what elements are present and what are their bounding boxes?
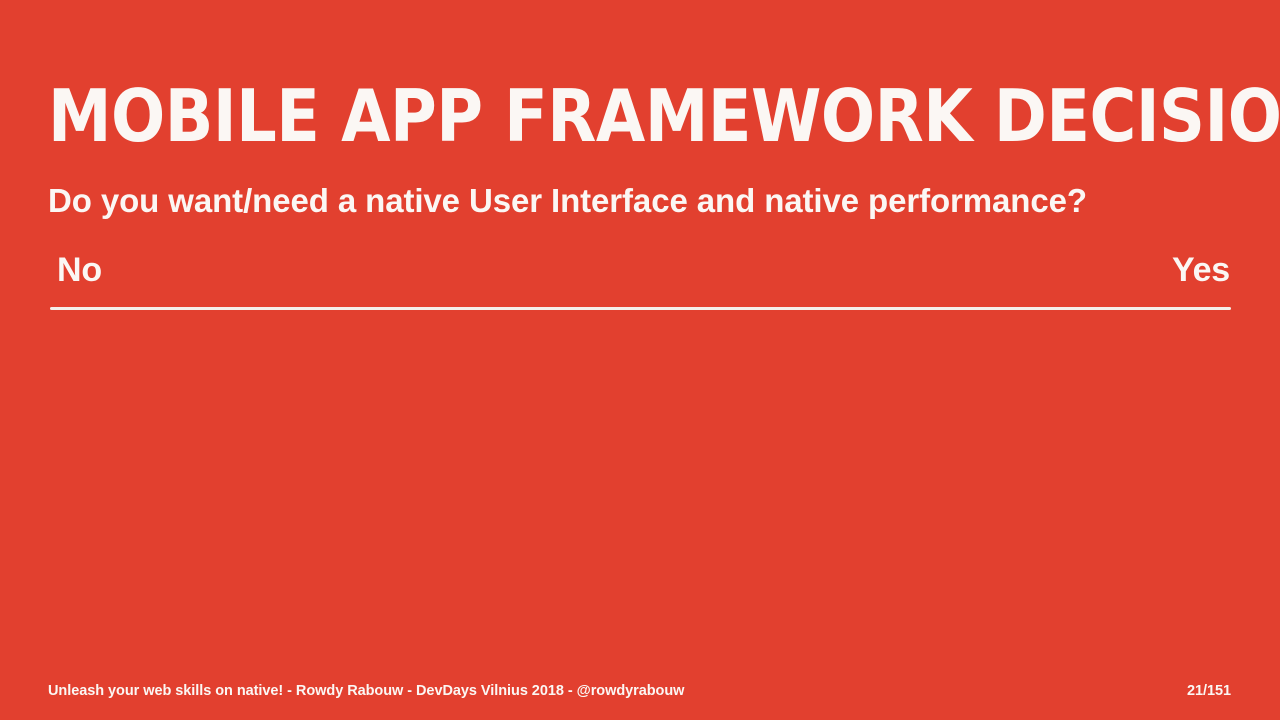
answer-options-row: No Yes	[50, 246, 1231, 294]
decision-question: Do you want/need a native User Interface…	[48, 179, 1238, 223]
footer: Unleash your web skills on native! - Row…	[48, 682, 1231, 700]
page-title: Mobile App Framework Decision Guide	[48, 78, 1214, 154]
footer-credit: Unleash your web skills on native! - Row…	[48, 682, 684, 700]
slide-content-area	[50, 320, 1231, 650]
slide: Mobile App Framework Decision Guide Do y…	[0, 0, 1280, 720]
answer-option-no: No	[50, 249, 102, 291]
horizontal-divider	[50, 307, 1231, 310]
answer-option-yes: Yes	[1172, 249, 1231, 291]
footer-page-number: 21/151	[1187, 682, 1231, 700]
